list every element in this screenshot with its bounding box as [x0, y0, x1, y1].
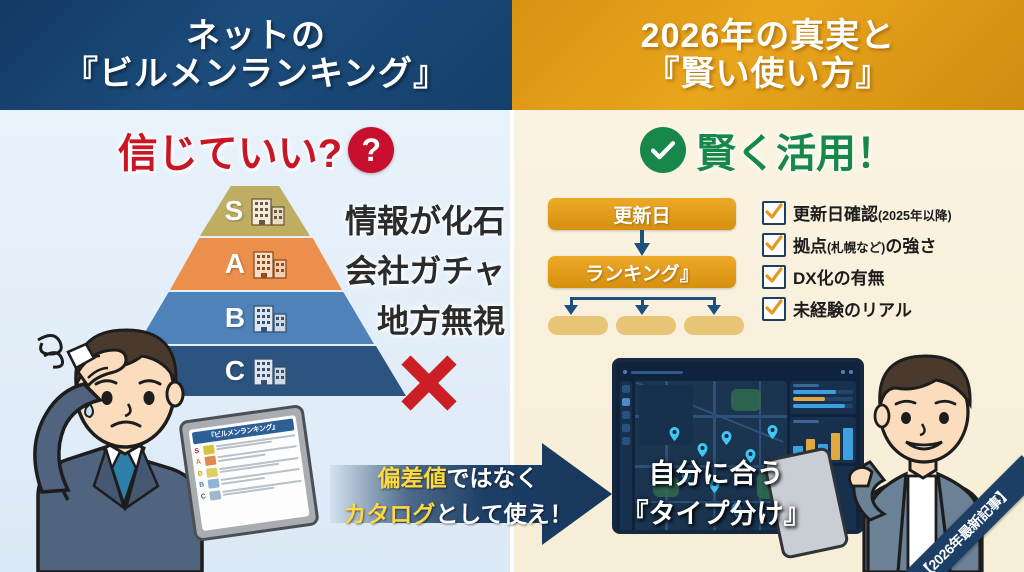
ranking-tablet[interactable]: 『ビルメンランキング』 S A B B [178, 404, 320, 542]
flow-branch [548, 288, 736, 316]
problem-item: 地方無視 [377, 296, 505, 342]
red-x-icon [398, 352, 460, 414]
settings-icon[interactable] [841, 370, 845, 374]
tablet-caption-line2: 『タイプ分け』 [622, 492, 811, 531]
building-icon [253, 303, 287, 333]
map-pin-icon[interactable] [669, 427, 680, 441]
dashboard-title-bar [631, 371, 683, 374]
tablet-screen: 『ビルメンランキング』 S A B B [188, 415, 309, 531]
arrow-banner-line2: カタログとして使え！ [343, 495, 572, 529]
tablet-caption: 自分に合う 『タイプ分け』 [606, 452, 826, 531]
left-subtitle-text: 信じていい? [118, 121, 342, 179]
flow-box-ranking[interactable]: ランキング』 [548, 256, 736, 288]
arrow-banner: 偏差値ではなく カタログとして使え！ [330, 443, 612, 545]
map-pin-icon[interactable] [721, 431, 732, 445]
building-icon [209, 490, 221, 500]
left-header-line1: ネットの [186, 17, 326, 55]
flow-diagram: 更新日 ランキング』 [548, 198, 748, 335]
flow-pill[interactable] [684, 316, 744, 335]
menu-icon[interactable] [623, 370, 627, 374]
problem-list: 情報が化石 会社ガチャ 地方無視 [300, 196, 505, 342]
checklist-main: DX化の有無 [793, 269, 885, 288]
pyramid-tier-s-grade: S [225, 195, 244, 227]
checklist-item[interactable]: 拠点(札幌など)の強さ [762, 232, 1020, 257]
building-icon [206, 467, 218, 477]
checklist-tail: の強さ [885, 237, 936, 256]
flow-pill[interactable] [616, 316, 676, 335]
arrow-banner-line1: 偏差値ではなく [378, 459, 539, 493]
tablet-rank-grade: B [197, 470, 205, 478]
building-icon [253, 249, 287, 279]
checklist-label: 更新日確認(2025年以降) [793, 200, 952, 225]
checklist-main: 拠点 [793, 237, 827, 256]
flow-box-update-date[interactable]: 更新日 [548, 198, 736, 230]
corner-ribbon: 【2026年最新記事】 [906, 454, 1024, 572]
flow-arrow-down-icon [548, 230, 736, 256]
building-icon [253, 356, 287, 386]
tablet-rank-grade: B [199, 481, 207, 489]
left-header-line2: 『ビルメンランキング』 [64, 55, 448, 93]
checklist-label: DX化の有無 [793, 264, 885, 289]
right-header-line1: 2026年の真実と [641, 17, 896, 55]
tablet-rank-grade: A [196, 458, 204, 466]
building-icon [251, 196, 285, 226]
checklist-label: 拠点(札幌など)の強さ [793, 232, 936, 257]
checklist-main: 更新日確認 [793, 205, 878, 224]
checklist-main: 未経験のリアル [793, 301, 912, 320]
ribbon-text: 【2026年最新記事】 [906, 455, 1024, 572]
tablet-rank-grade: C [200, 492, 208, 500]
map-pin-icon[interactable] [767, 425, 778, 439]
problem-item: 情報が化石 [345, 196, 505, 242]
checkbox-checked-icon[interactable] [762, 265, 786, 289]
pyramid-tier-s: S [200, 186, 310, 236]
checklist-item[interactable]: DX化の有無 [762, 264, 1020, 289]
checkbox-checked-icon[interactable] [762, 201, 786, 225]
right-subtitle-text: 賢く活用！ [696, 121, 896, 179]
right-subtitle: 賢く活用！ [512, 120, 1024, 180]
flow-result-pills [548, 316, 744, 335]
right-header-line2: 『賢い使い方』 [646, 55, 891, 93]
flow-pill[interactable] [548, 316, 608, 335]
arrow-banner-text: 偏差値ではなく カタログとして使え！ [344, 459, 572, 529]
tablet-frame: 『ビルメンランキング』 S A B B [178, 404, 320, 542]
checklist: 更新日確認(2025年以降) 拠点(札幌など)の強さ DX化の有無 未経験のリア… [762, 200, 1020, 321]
checklist-label: 未経験のリアル [793, 296, 912, 321]
question-mark-icon: ? [348, 127, 394, 173]
left-subtitle: 信じていい? ? [0, 120, 512, 180]
left-header: ネットの 『ビルメンランキング』 [0, 0, 512, 110]
checklist-item[interactable]: 未経験のリアル [762, 296, 1020, 321]
checklist-note: (2025年以降) [878, 209, 952, 223]
problem-item: 会社ガチャ [345, 246, 505, 292]
checklist-note: (札幌など) [827, 241, 885, 255]
tablet-caption-line1: 自分に合う [649, 452, 784, 491]
building-icon [203, 444, 215, 454]
building-icon [204, 456, 216, 466]
checklist-item[interactable]: 更新日確認(2025年以降) [762, 200, 1020, 225]
checkbox-checked-icon[interactable] [762, 233, 786, 257]
checkbox-checked-icon[interactable] [762, 297, 786, 321]
dashboard-toolbar [620, 366, 856, 378]
tablet-rank-grade: S [194, 447, 202, 455]
building-icon [208, 478, 220, 488]
pyramid-tier-a-grade: A [225, 248, 245, 280]
check-circle-icon [640, 127, 686, 173]
right-header: 2026年の真実と 『賢い使い方』 [512, 0, 1024, 110]
infographic-canvas: ネットの 『ビルメンランキング』 2026年の真実と 『賢い使い方』 信じていい… [0, 0, 1024, 572]
